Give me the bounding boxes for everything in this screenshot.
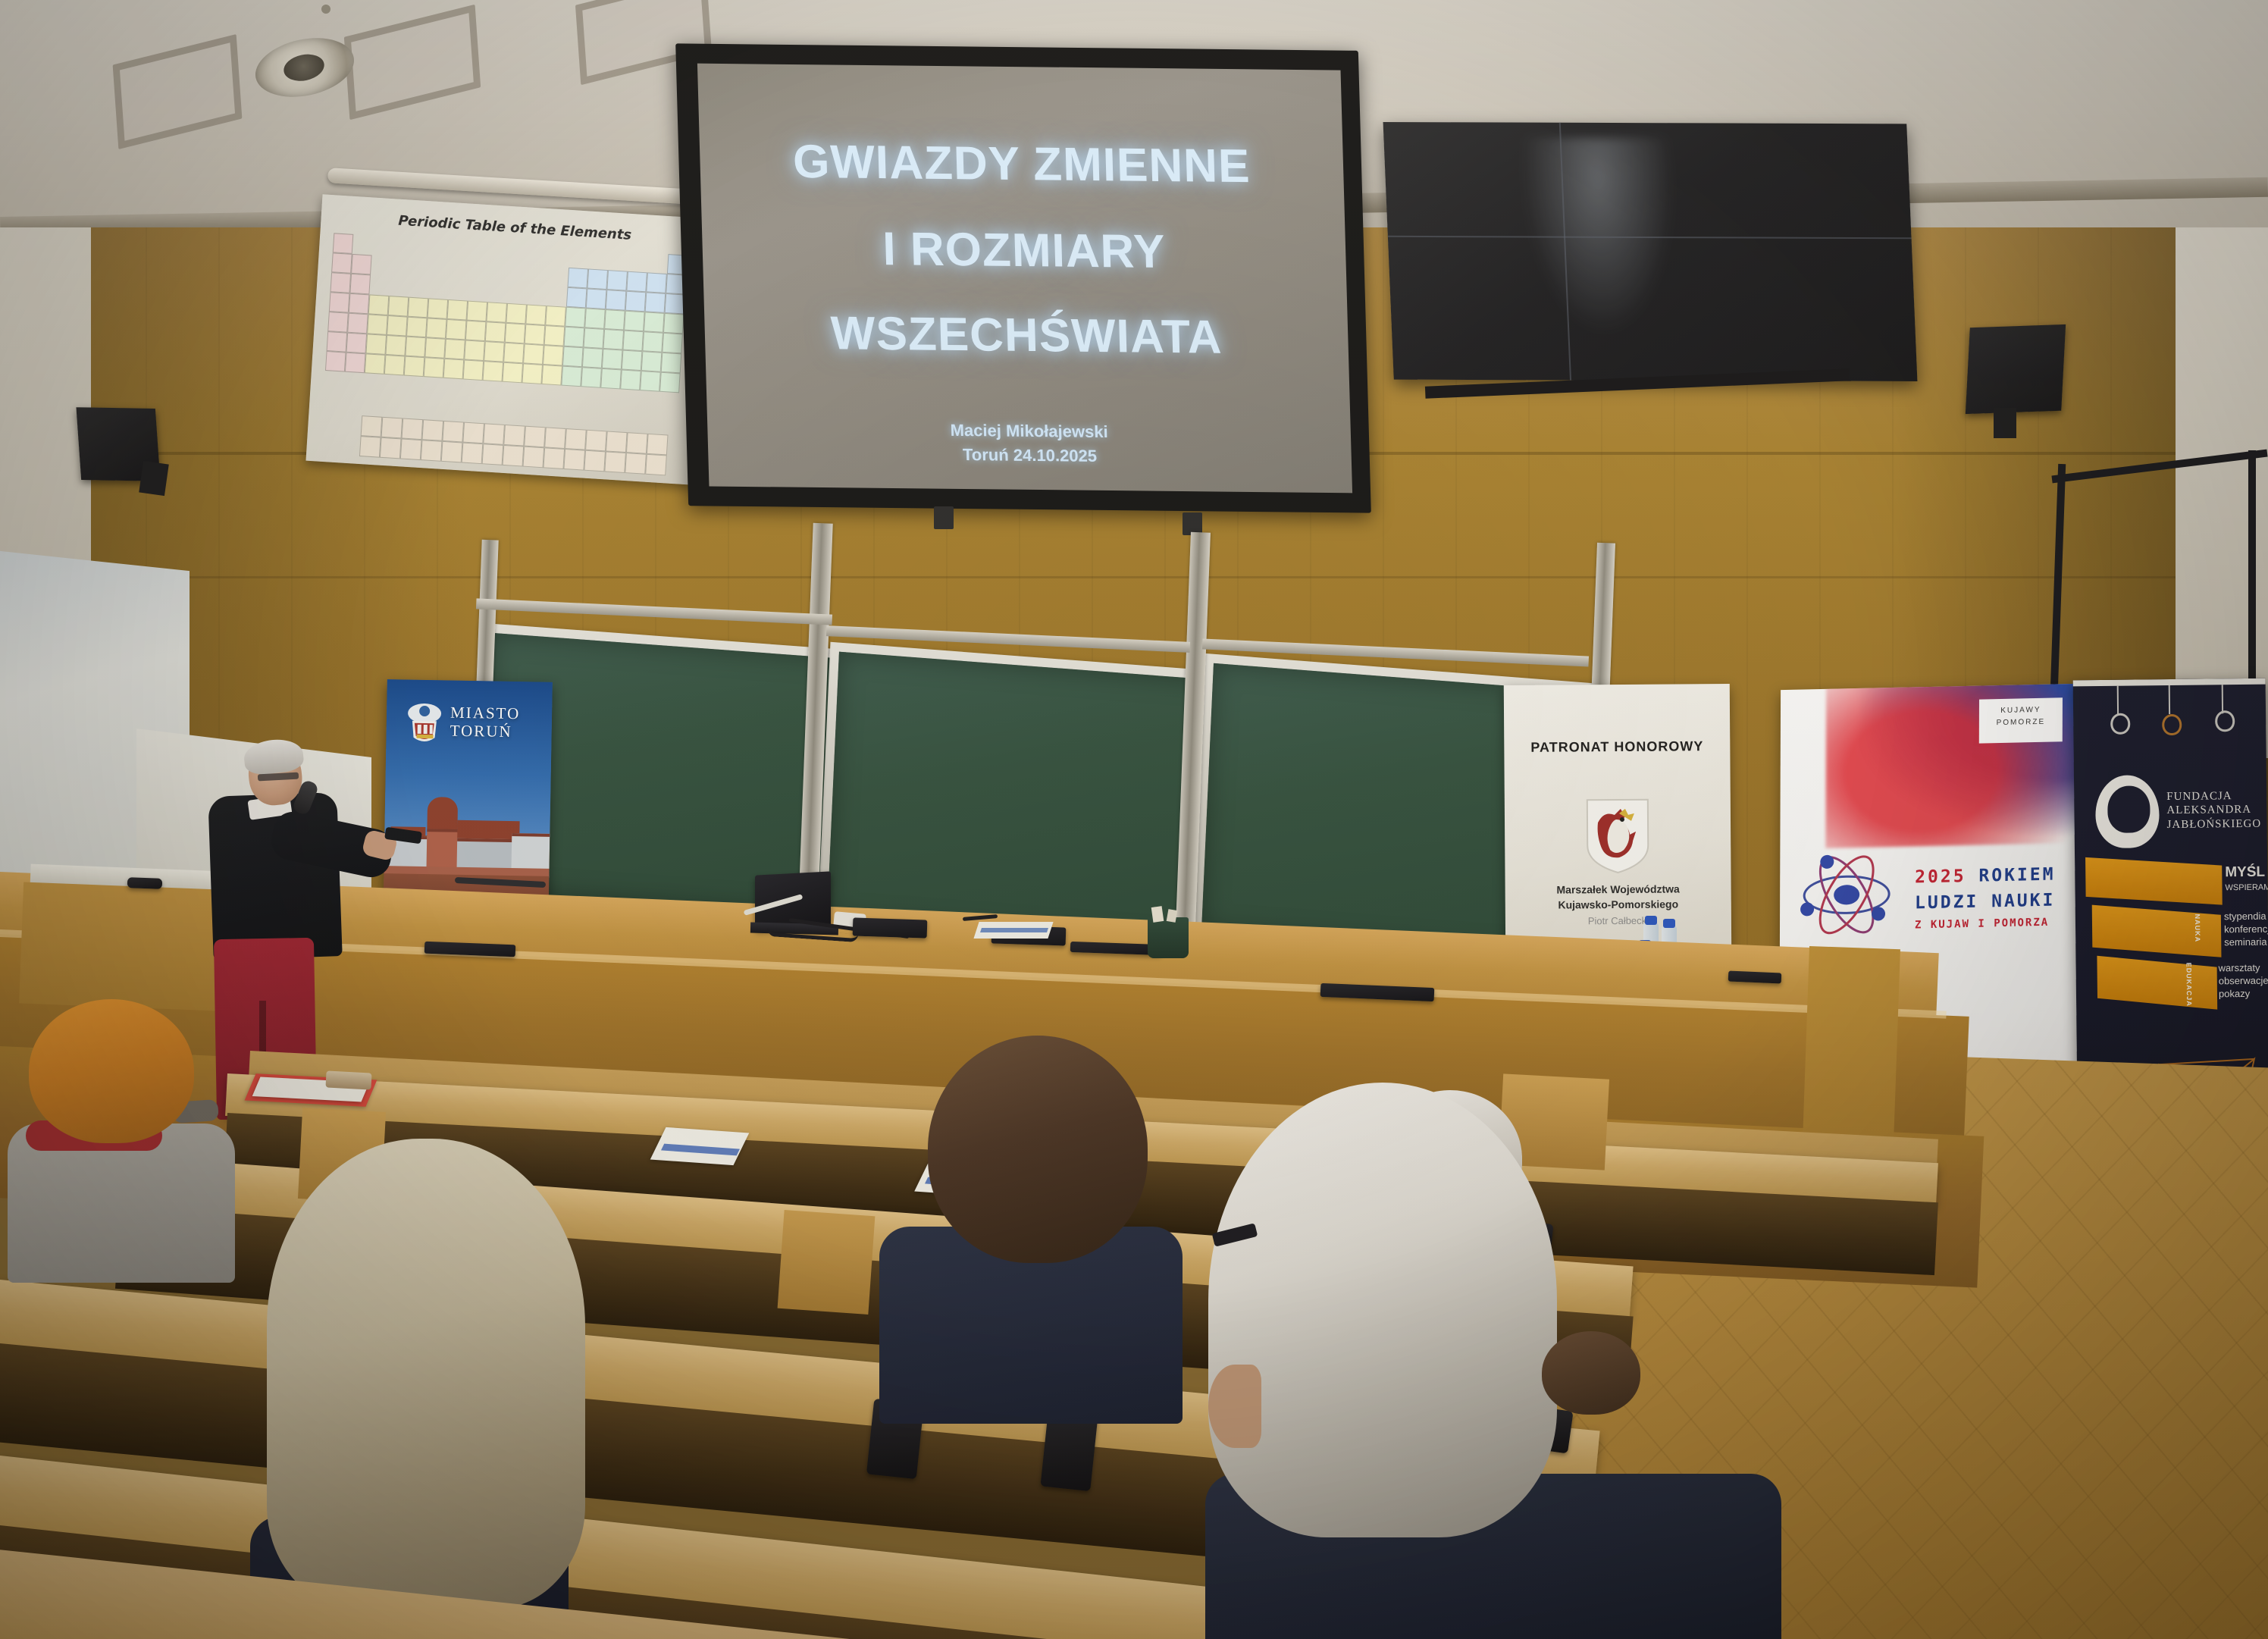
periodic-table-cell (405, 337, 426, 358)
periodic-table-cell (444, 339, 465, 360)
periodic-table-cell (426, 318, 447, 339)
periodic-table-cell (503, 343, 525, 364)
periodic-table-cell (331, 252, 352, 274)
chalkboard-middle (827, 652, 1214, 947)
periodic-table-cell (349, 274, 371, 295)
periodic-table-cell (525, 304, 547, 325)
patronat-title: PATRONAT HONOROWY (1504, 738, 1730, 756)
nauki-year: 2025 (1915, 867, 1966, 887)
fundacja-bar-3-line2: obserwacje (2219, 975, 2268, 989)
periodic-table-cell (365, 353, 386, 374)
periodic-table-cell (522, 363, 543, 384)
paper-band (980, 928, 1048, 932)
fundacja-bar-1 (2085, 857, 2223, 905)
periodic-table-cell (327, 312, 349, 333)
periodic-table-cell (602, 349, 623, 370)
fundacja-name-line1: FUNDACJA (2166, 788, 2268, 804)
projection-screen-frame: GWIAZDY ZMIENNE I ROZMIARY WSZECHŚWIATA … (675, 43, 1371, 512)
periodic-table-cell (502, 362, 523, 384)
periodic-table-cell (408, 297, 429, 318)
periodic-table-cell (506, 303, 527, 324)
banner-torun-text: MIASTO TORUŃ (450, 704, 547, 742)
periodic-table-cell (443, 359, 465, 380)
audience-member-head (267, 1139, 585, 1609)
periodic-table-cell (543, 447, 565, 469)
periodic-table-cell (325, 351, 346, 372)
periodic-table-cell (581, 367, 602, 388)
blackboard-eraser[interactable] (325, 1070, 371, 1089)
periodic-table-cell (400, 438, 422, 460)
banner-hook-ring (2110, 713, 2130, 735)
periodic-table-cell (466, 301, 487, 322)
periodic-table-cell (600, 368, 622, 390)
fundacja-name-line3: JABŁOŃSKIEGO (2167, 816, 2268, 832)
audience-member-ear (1208, 1365, 1261, 1448)
video-wall-display[interactable] (1383, 122, 1918, 381)
fundacja-bar-1-text: MYŚL WSPIERAMY (2225, 863, 2268, 894)
atom-icon (1798, 850, 1895, 940)
periodic-table-cell (465, 321, 487, 342)
speaker-bracket-left (139, 461, 169, 496)
slide-author: Maciej Mikołajewski (707, 418, 1351, 445)
wall-rail-post-2 (2248, 450, 2256, 700)
periodic-table-cell (646, 272, 667, 293)
kujawy-pomorze-logo: KUJAWY POMORZE (1979, 697, 2063, 743)
periodic-table-cell (359, 436, 381, 458)
periodic-table-cell (346, 333, 368, 354)
periodic-table-cell (622, 331, 644, 352)
periodic-table-cell (349, 293, 370, 315)
banner-hook-ring (2162, 714, 2182, 735)
periodic-table-cell (329, 292, 350, 313)
patronat-subtitle-2: Kujawsko-Pomorskiego (1505, 898, 1731, 911)
jablonski-silhouette-inner (2107, 785, 2151, 833)
nauki-headline-rest: ROKIEM (1966, 865, 2056, 886)
banner-torun-line1: MIASTO (450, 704, 547, 723)
fundacja-bar-1-line1: MYŚL (2225, 863, 2268, 882)
banner-torun-line2: TORUŃ (450, 722, 547, 741)
ceiling-light-fixture (250, 30, 360, 105)
audience-member-head (29, 999, 194, 1143)
nauki-headline-line1: 2025 ROKIEM (1915, 865, 2055, 888)
remote-control-on-table[interactable] (127, 877, 162, 889)
periodic-table-cell (582, 347, 603, 368)
periodic-table-cell (645, 292, 666, 313)
periodic-table-cell (620, 369, 641, 390)
periodic-table-cell (565, 428, 587, 450)
ceiling-sensor (321, 5, 330, 14)
periodic-table-cell (640, 371, 661, 392)
water-bottle-cap (1663, 919, 1675, 928)
periodic-table-cell (566, 287, 587, 309)
kujawsko-pomorskie-coat-of-arms-icon (1583, 797, 1653, 876)
fundacja-bar-3-line1: warsztaty (2219, 962, 2268, 976)
periodic-table-cell (625, 453, 647, 475)
periodic-table-cell (421, 440, 443, 462)
fundacja-bar-3-text: warsztaty obserwacje pokazy (2219, 962, 2268, 1001)
fundacja-bar-2-line3: seminaria (2224, 935, 2268, 949)
audience-member-head (1542, 1331, 1640, 1415)
periodic-table-cell (486, 302, 507, 323)
nauki-headline-line3: Z KUJAW I POMORZA (1915, 917, 2049, 932)
wall-speaker-right (1966, 324, 2066, 414)
lecture-hall-photo: Periodic Table of the Elements GWIAZDY Z… (0, 0, 2268, 1639)
periodic-table-cell (626, 432, 648, 454)
periodic-table-cell (347, 313, 368, 334)
periodic-table-cell (483, 423, 505, 445)
periodic-table-cell (541, 365, 562, 386)
periodic-table-cell (367, 314, 388, 335)
projection-screen-surface: GWIAZDY ZMIENNE I ROZMIARY WSZECHŚWIATA … (697, 64, 1352, 494)
fundacja-bar-2-text: stypendia konferencje seminaria (2224, 910, 2268, 949)
periodic-table-cell (565, 307, 586, 328)
fundacja-bar-2 (2092, 905, 2222, 957)
periodic-table-cell (424, 337, 446, 359)
periodic-table-cell (525, 324, 546, 345)
periodic-table-cell (544, 325, 565, 346)
periodic-table-cell (644, 312, 665, 333)
periodic-table-cell (485, 321, 506, 343)
periodic-table-grid (323, 233, 694, 429)
periodic-table-cell (606, 431, 628, 453)
periodic-table-cell (484, 341, 505, 362)
desk-speaker-left (853, 917, 928, 938)
periodic-table-cell (661, 353, 682, 374)
periodic-table-cell (545, 306, 566, 327)
periodic-table-cell (586, 288, 607, 309)
periodic-table-cell (462, 443, 484, 465)
periodic-table-cell (464, 340, 485, 361)
slide-date-place: Toruń 24.10.2025 (708, 442, 1352, 469)
periodic-table-cell (622, 350, 643, 371)
chalk-cup[interactable] (1148, 917, 1189, 958)
ceiling-light-inner (281, 51, 327, 84)
fundacja-bar-2-line2: konferencje (2224, 923, 2268, 936)
water-bottle-cap (1645, 916, 1657, 925)
periodic-table-cell (625, 291, 647, 312)
periodic-table-cell (503, 445, 525, 467)
periodic-table-cell (564, 327, 585, 348)
nauki-headline-line2: LUDZI NAUKI (1915, 891, 2055, 914)
periodic-table-cell (380, 437, 402, 459)
periodic-table-cell (385, 335, 406, 356)
slide-title-line-2: I ROZMIARY (702, 223, 1346, 280)
periodic-table-cell (330, 272, 351, 293)
periodic-table-cell (584, 450, 606, 472)
periodic-table-cell (523, 343, 544, 365)
ceiling-panel (113, 34, 243, 149)
periodic-table-cell (402, 418, 424, 440)
fundacja-bar-1-line2: WSPIERAMY (2225, 882, 2268, 893)
slide-title-line-1: GWIAZDY ZMIENNE (700, 136, 1344, 194)
periodic-table-cell (544, 427, 566, 449)
fundacja-name-line2: ALEKSANDRA (2166, 803, 2268, 818)
periodic-table-cell (645, 454, 667, 476)
periodic-table-cell (505, 323, 526, 344)
periodic-table-cell (663, 313, 684, 334)
chalk-piece (1151, 906, 1164, 923)
banner-hook-wire (2169, 685, 2170, 714)
jablonski-silhouette-icon (2095, 775, 2160, 848)
periodic-table-cell (442, 421, 464, 443)
periodic-table-cell (345, 353, 366, 374)
periodic-table-cell (327, 331, 348, 353)
periodic-table-cell (463, 359, 484, 381)
periodic-table-cell (561, 366, 582, 387)
periodic-table-cell (606, 290, 627, 311)
fundacja-name: FUNDACJA ALEKSANDRA JABŁOŃSKIEGO (2166, 788, 2268, 831)
periodic-table-cell (384, 355, 406, 376)
periodic-table-cell (624, 311, 645, 332)
periodic-table-poster: Periodic Table of the Elements (305, 194, 710, 484)
stage-edge-slot-3 (1728, 971, 1782, 984)
periodic-table-cell (333, 233, 354, 254)
ceiling-panel (344, 5, 481, 120)
periodic-table-cell (647, 434, 669, 456)
periodic-table-cell (641, 351, 663, 372)
screen-mount-left (934, 506, 954, 529)
periodic-table-cell (404, 356, 425, 378)
fundacja-bar-3-label: EDUKACJA (2185, 963, 2194, 1007)
periodic-table-cell (584, 308, 606, 329)
periodic-table-cell (424, 357, 445, 378)
periodic-table-cell (604, 451, 626, 473)
periodic-table-cell (441, 441, 463, 463)
periodic-table-cell (365, 334, 387, 355)
periodic-table-cell (606, 270, 628, 291)
periodic-table-cell (483, 361, 504, 382)
banner-hook-ring (2215, 710, 2235, 732)
periodic-table-cell (482, 443, 504, 465)
fundacja-bar-2-line1: stypendia (2224, 910, 2268, 924)
periodic-table-cell (406, 317, 428, 338)
periodic-table-cell (562, 346, 584, 368)
periodic-table-cell (659, 372, 681, 393)
fundacja-bar-3-line3: pokazy (2219, 987, 2268, 1001)
periodic-table-cell (446, 319, 467, 340)
periodic-table-cell (428, 298, 449, 319)
banner-hook-wire (2222, 685, 2223, 713)
periodic-table-cell (587, 268, 608, 290)
periodic-table-cell (361, 415, 383, 437)
fundacja-bar-3 (2097, 956, 2217, 1010)
audience-member-head (928, 1036, 1148, 1263)
periodic-table-cell (388, 296, 409, 317)
periodic-table-cell (626, 271, 647, 293)
bench-end-panel (778, 1210, 876, 1315)
periodic-table-cell (462, 422, 484, 444)
patronat-subtitle-1: Marszałek Województwa (1505, 882, 1731, 896)
audience-member-head (1208, 1083, 1557, 1537)
periodic-table-cell (381, 417, 403, 439)
periodic-table-cell (447, 299, 468, 321)
periodic-table-cell (543, 345, 564, 366)
periodic-table-cell (584, 327, 605, 349)
patronat-name: Piotr Całbecki (1505, 914, 1731, 927)
speaker-bracket-right (1994, 408, 2016, 438)
periodic-table-cell (523, 447, 545, 469)
fundacja-bar-2-label: NAUKA (2194, 914, 2201, 943)
periodic-table-cell (368, 294, 390, 315)
periodic-table-cell (387, 315, 408, 337)
periodic-table-cell (568, 268, 589, 289)
kujawy-pomorze-line1: KUJAWY (1979, 705, 2063, 715)
periodic-table-cell (662, 333, 683, 354)
periodic-table-cell (524, 426, 546, 448)
banner-patronat-honorowy: PATRONAT HONOROWY Marszałek Województwa … (1504, 684, 1731, 955)
periodic-table-cell (563, 449, 585, 471)
periodic-table-cell (585, 430, 607, 452)
torun-coat-of-arms-icon (404, 701, 444, 746)
periodic-table-cell (421, 419, 443, 441)
banner-hook-wire (2117, 686, 2119, 715)
periodic-table-cell (642, 331, 663, 353)
periodic-table-cell (603, 329, 625, 350)
periodic-table-cell (503, 425, 525, 447)
slide-title-line-3: WSZECHŚWIATA (704, 308, 1349, 365)
periodic-table-cell (604, 309, 625, 331)
periodic-table-cell (351, 254, 372, 275)
kujawy-pomorze-line2: POMORZE (1979, 717, 2063, 727)
